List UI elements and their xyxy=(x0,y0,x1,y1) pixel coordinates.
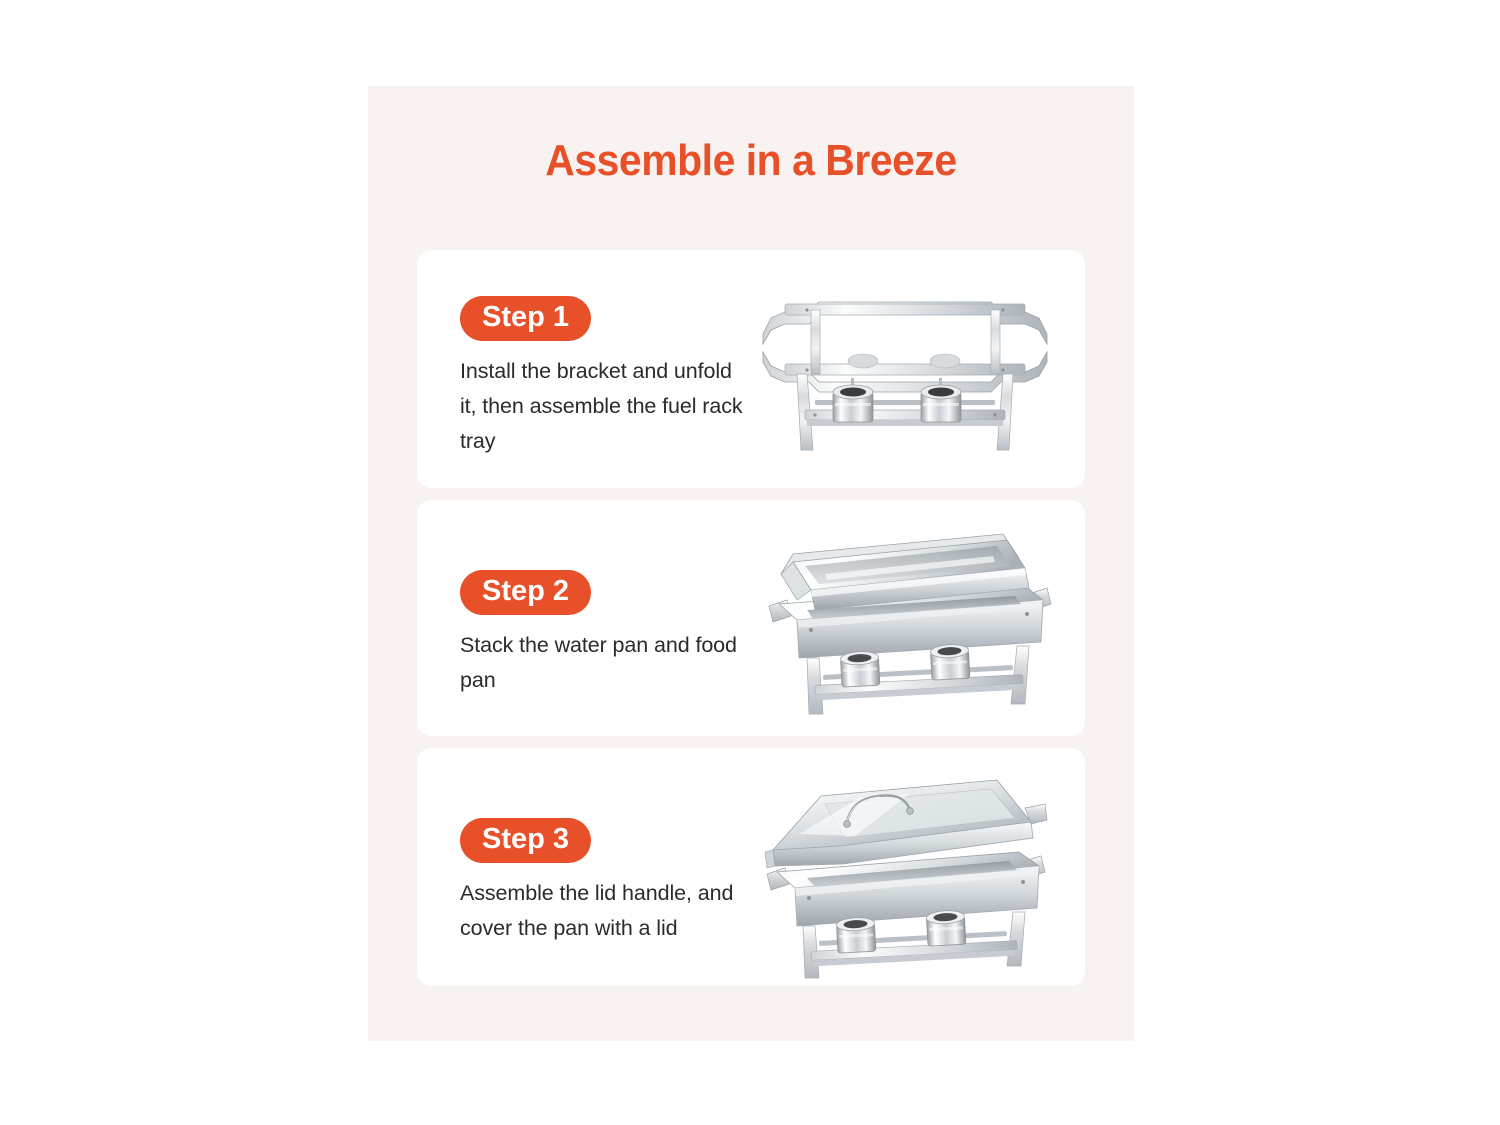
step-3-text-block: Step 3 Assemble the lid handle, and cove… xyxy=(452,748,752,986)
step-3-description: Assemble the lid handle, and cover the p… xyxy=(460,876,750,946)
step-2-badge: Step 2 xyxy=(460,570,591,615)
chafing-dish-lid-icon xyxy=(759,768,1059,983)
step-card-2: Step 2 Stack the water pan and food pan xyxy=(417,500,1085,736)
step-2-text-block: Step 2 Stack the water pan and food pan xyxy=(452,500,752,736)
content-panel: Assemble in a Breeze Step 1 Install the … xyxy=(368,86,1134,1041)
water-pan-food-pan-icon xyxy=(753,508,1063,728)
step-1-text-block: Step 1 Install the bracket and unfold it… xyxy=(452,250,752,488)
page-title: Assemble in a Breeze xyxy=(395,136,1107,186)
step-2-image xyxy=(745,500,1085,736)
infographic-page: Assemble in a Breeze Step 1 Install the … xyxy=(0,0,1500,1125)
step-card-3: Step 3 Assemble the lid handle, and cove… xyxy=(417,748,1085,986)
step-card-1: Step 1 Install the bracket and unfold it… xyxy=(417,250,1085,488)
step-3-image xyxy=(745,748,1085,986)
step-1-image xyxy=(745,250,1085,488)
step-1-description: Install the bracket and unfold it, then … xyxy=(460,354,750,459)
step-3-badge: Step 3 xyxy=(460,818,591,863)
step-1-badge: Step 1 xyxy=(460,296,591,341)
step-2-description: Stack the water pan and food pan xyxy=(460,628,750,698)
chafing-frame-icon xyxy=(755,282,1055,462)
